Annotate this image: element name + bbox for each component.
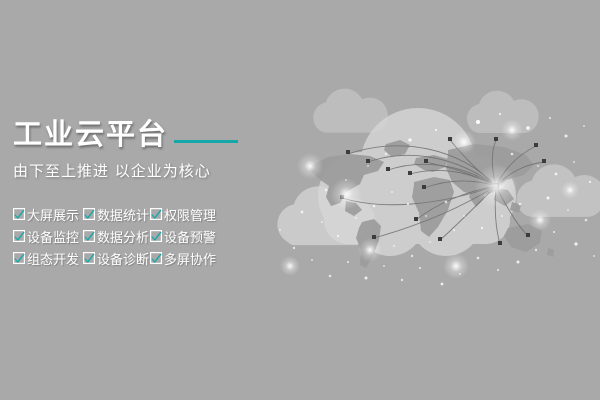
checkbox-check-icon [150,208,162,220]
feature-item[interactable]: 数据统计 [83,203,150,225]
checkbox-check-icon [150,252,162,264]
subtitle: 由下至上推进 以企业为核心 [13,160,273,181]
feature-label: 组态开发 [27,249,79,268]
feature-item[interactable]: 设备诊断 [83,247,150,269]
feature-item[interactable]: 多屏协作 [150,247,216,269]
title-row: 工业云平台 [13,120,273,149]
checkbox-check-icon [83,230,95,242]
feature-label: 多屏协作 [164,249,216,268]
checkbox-check-icon [13,230,25,242]
feature-item[interactable]: 设备预警 [150,225,216,247]
feature-item[interactable]: 大屏展示 [13,203,83,225]
checkbox-check-icon [13,208,25,220]
feature-item[interactable]: 组态开发 [13,247,83,269]
checkbox-check-icon [83,208,95,220]
checkbox-check-icon [150,230,162,242]
feature-label: 设备诊断 [97,249,149,268]
feature-label: 数据统计 [97,205,149,224]
feature-label: 数据分析 [97,227,149,246]
headline-block: 工业云平台 由下至上推进 以企业为核心 [13,120,273,181]
feature-label: 权限管理 [164,205,216,224]
cloud-world-map-artwork [250,70,600,330]
feature-list: 大屏展示 数据统计 权限管理 设备监控 [13,203,216,269]
feature-item[interactable]: 权限管理 [150,203,216,225]
checkbox-check-icon [13,252,25,264]
feature-item[interactable]: 设备监控 [13,225,83,247]
page-title: 工业云平台 [13,120,168,149]
feature-item[interactable]: 数据分析 [83,225,150,247]
feature-label: 大屏展示 [27,205,79,224]
title-rule [174,140,238,143]
cloud-shape-right [517,164,600,216]
feature-label: 设备监控 [27,227,79,246]
checkbox-check-icon [83,252,95,264]
feature-label: 设备预警 [164,227,216,246]
hero-banner: 工业云平台 由下至上推进 以企业为核心 大屏展示 数据统计 权限 [0,0,600,400]
